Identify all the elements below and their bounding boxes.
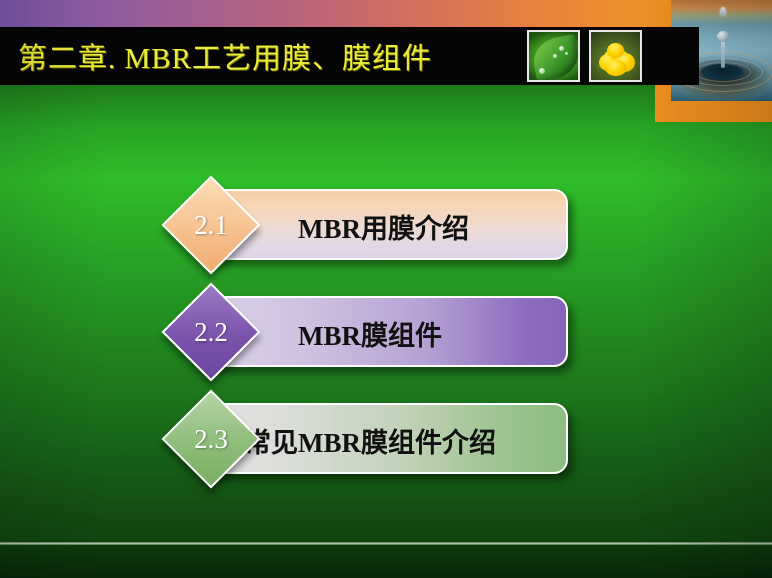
- agenda-label-1: MBR用膜介绍: [298, 191, 469, 262]
- leaf-thumbnail: [527, 30, 580, 82]
- splash-column: [721, 38, 725, 68]
- agenda-label-2: MBR膜组件: [298, 298, 442, 369]
- flower-petal: [605, 60, 627, 76]
- agenda-bar-1[interactable]: MBR用膜介绍: [214, 189, 568, 260]
- page-title: 第二章. MBR工艺用膜、膜组件: [18, 27, 432, 85]
- footer-strip: [0, 545, 772, 578]
- flower-thumbnail: [589, 30, 642, 82]
- dew-drop-icon: [565, 52, 568, 55]
- falling-drop-icon: [720, 7, 726, 16]
- agenda-bar-3[interactable]: 常见MBR膜组件介绍: [214, 403, 568, 474]
- dew-drop-icon: [559, 46, 564, 51]
- flower-petal: [607, 43, 624, 58]
- dew-drop-icon: [553, 54, 557, 58]
- agenda-bar-2[interactable]: MBR膜组件: [214, 296, 568, 367]
- agenda-number-3: 2.3: [178, 406, 244, 472]
- dew-drop-icon: [539, 68, 545, 74]
- agenda-number-2: 2.2: [178, 299, 244, 365]
- agenda-number-1: 2.1: [178, 192, 244, 258]
- presentation-slide: 第二章. MBR工艺用膜、膜组件 MBR用膜介绍 2.1 MBR膜组件 2.2 …: [0, 0, 772, 578]
- agenda-label-3: 常见MBR膜组件介绍: [244, 405, 496, 476]
- footer-divider: [0, 542, 772, 545]
- splash-head-drop: [717, 31, 729, 42]
